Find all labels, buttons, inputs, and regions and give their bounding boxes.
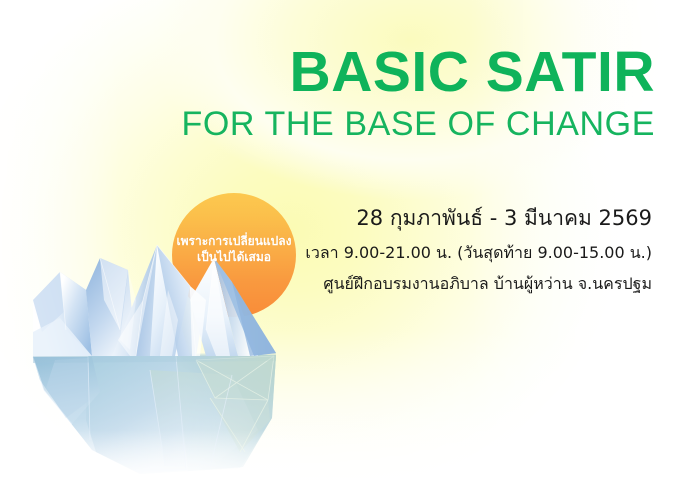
- iceberg-illustration: [0, 0, 680, 480]
- poster-canvas: เพราะการเปลี่ยนแปลง เป็นไปได้เสมอ BASIC …: [0, 0, 680, 480]
- badge-text: เพราะการเปลี่ยนแปลง เป็นไปได้เสมอ: [160, 233, 308, 265]
- badge-line-1: เพราะการเปลี่ยนแปลง: [160, 233, 308, 249]
- badge-line-2: เป็นไปได้เสมอ: [160, 249, 308, 265]
